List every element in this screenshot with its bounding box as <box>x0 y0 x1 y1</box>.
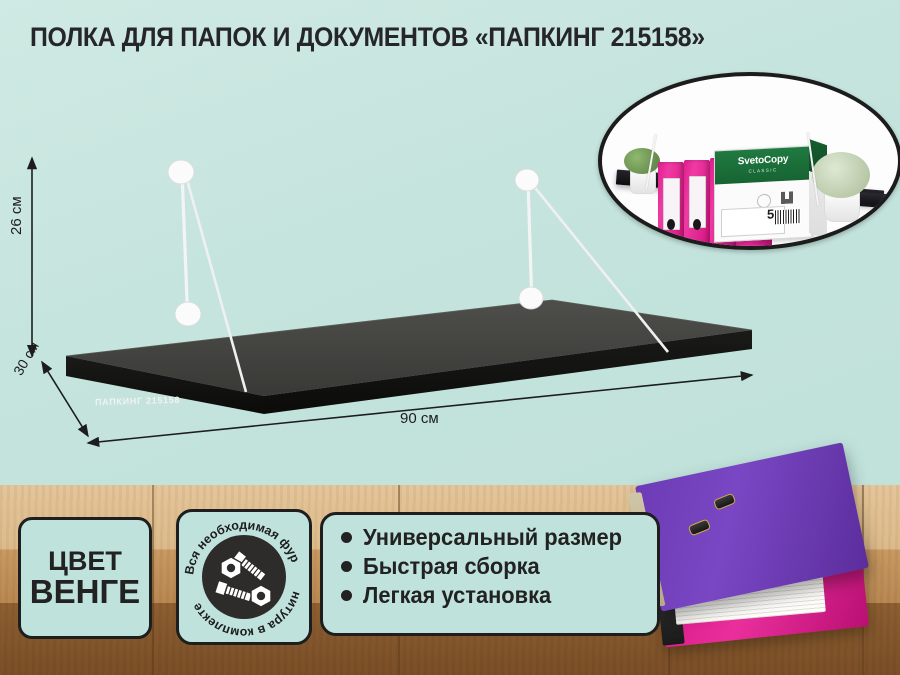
height-dimension-label: 26 см <box>8 196 25 235</box>
photo-plant-foliage-right <box>812 152 870 198</box>
feature-label: Легкая установка <box>363 582 551 609</box>
hardware-icon-disc <box>202 535 286 619</box>
inset-photo-oval: SvetoCopy CLASSIC 5 <box>598 72 900 250</box>
feature-item: Легкая установка <box>341 582 657 609</box>
feature-label: Универсальный размер <box>363 524 622 551</box>
inset-photo-content: SvetoCopy CLASSIC 5 <box>602 76 898 246</box>
photo-binder <box>658 162 684 246</box>
binder-ring <box>688 518 712 536</box>
bullet-icon <box>341 590 352 601</box>
feature-label: Быстрая сборка <box>363 553 540 580</box>
bolts-and-nuts-icon <box>202 535 286 619</box>
photo-paper-box: SvetoCopy CLASSIC 5 <box>714 145 812 242</box>
binder-ring <box>713 493 737 511</box>
bullet-icon <box>341 561 352 572</box>
color-badge-line2: ВЕНГЕ <box>30 575 140 610</box>
photo-paper-box-qty: 5 <box>767 206 774 221</box>
photo-qr-icon <box>781 191 793 204</box>
width-dimension-label: 90 см <box>400 410 439 427</box>
photo-barcode <box>775 209 801 224</box>
bullet-icon <box>341 532 352 543</box>
photo-binder-hole <box>667 219 675 230</box>
binders-photo <box>630 415 900 675</box>
photo-plant-foliage-left <box>624 148 660 174</box>
features-badge: Универсальный размер Быстрая сборка Легк… <box>320 512 660 636</box>
hardware-included-badge: Вся необходимая фур нитура в комплекте <box>176 509 312 645</box>
photo-binder <box>684 160 710 246</box>
photo-binder-hole <box>693 219 701 230</box>
infographic-canvas: ПОЛКА ДЛЯ ПАПОК И ДОКУМЕНТОВ «ПАПКИНГ 21… <box>0 0 900 675</box>
color-badge-line1: ЦВЕТ <box>48 547 122 575</box>
feature-item: Универсальный размер <box>341 524 657 551</box>
color-badge: ЦВЕТ ВЕНГЕ <box>18 517 152 639</box>
feature-item: Быстрая сборка <box>341 553 657 580</box>
